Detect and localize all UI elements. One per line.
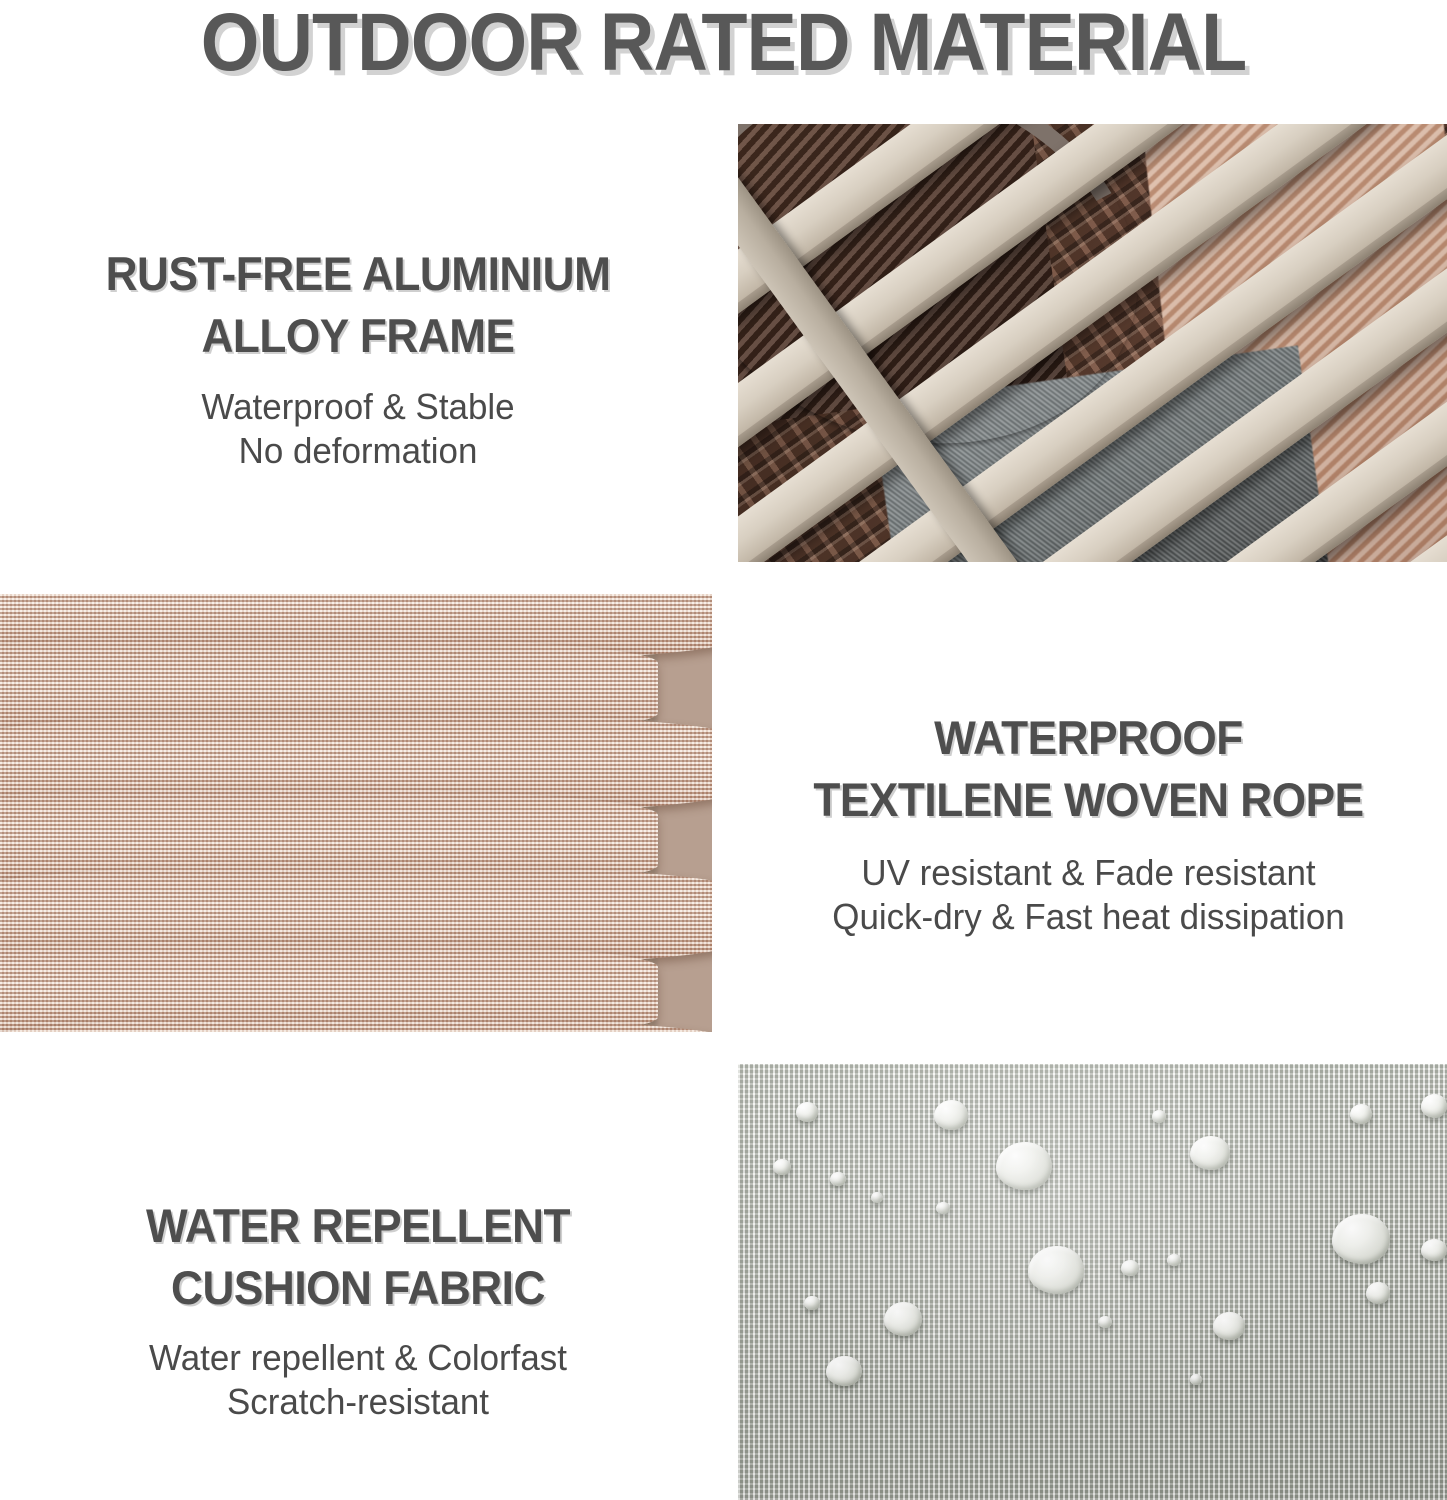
- feature-subtext-water-repellent-cushion-fabric: Water repellent & Colorfast Scratch-resi…: [11, 1336, 706, 1424]
- feature-subtext-aluminium-alloy-frame: Waterproof & Stable No deformation: [11, 385, 706, 473]
- water-repellent-cushion-fabric-photo: [738, 1064, 1447, 1500]
- feature-heading-aluminium-alloy-frame: RUST-FREE ALUMINIUM ALLOY FRAME: [21, 243, 694, 367]
- textilene-woven-rope-photo: [0, 594, 712, 1032]
- page-title: OUTDOOR RATED MATERIAL: [58, 0, 1389, 92]
- feature-heading-water-repellent-cushion-fabric: WATER REPELLENT CUSHION FABRIC: [21, 1195, 694, 1319]
- fabric-lighting-overlay: [738, 1064, 1447, 1500]
- feature-heading-textilene-woven-rope: WATERPROOF TEXTILENE WOVEN ROPE: [752, 707, 1426, 831]
- feature-subtext-textilene-woven-rope: UV resistant & Fade resistant Quick-dry …: [741, 851, 1436, 939]
- aluminium-alloy-frame-photo: [738, 124, 1447, 562]
